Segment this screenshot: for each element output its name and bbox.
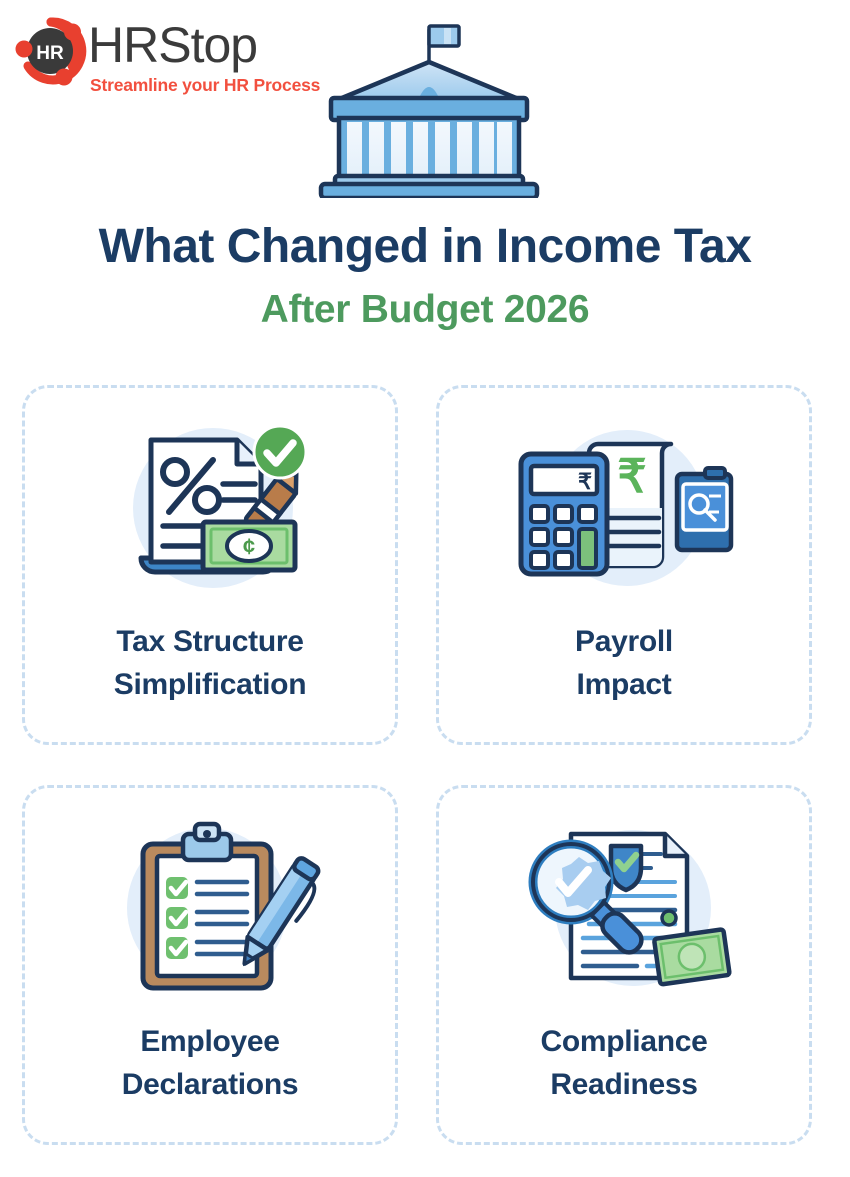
card-compliance-readiness[interactable]: Compliance Readiness <box>436 785 812 1145</box>
card-tax-structure-simplification[interactable]: ¢ Tax Structure Simplification <box>22 385 398 745</box>
government-bank-building-icon <box>295 18 555 198</box>
svg-text:HR: HR <box>36 43 64 64</box>
card-grid: ¢ Tax Structure Simplification <box>22 385 828 1145</box>
card-label-line2: Impact <box>439 663 809 706</box>
page-title: What Changed in Income Tax <box>0 218 850 276</box>
card-label-line2: Simplification <box>25 663 395 706</box>
magnifier-shield-document-icon <box>509 812 739 1002</box>
card-payroll-impact[interactable]: ₹ ₹ <box>436 385 812 745</box>
tax-document-percent-icon: ¢ <box>95 412 325 602</box>
brand-tagline: Streamline your HR Process <box>90 76 320 95</box>
card-label: Tax Structure Simplification <box>25 620 395 706</box>
card-label: Payroll Impact <box>439 620 809 706</box>
card-label-line1: Compliance <box>439 1020 809 1063</box>
clipboard-checklist-pen-icon <box>95 812 325 1002</box>
svg-text:¢: ¢ <box>243 534 255 559</box>
svg-text:₹: ₹ <box>578 469 592 494</box>
card-label: Compliance Readiness <box>439 1020 809 1106</box>
page-subtitle: After Budget 2026 <box>0 286 850 334</box>
hrstop-logo-mark-icon: HR <box>14 14 88 88</box>
card-label-line1: Payroll <box>439 620 809 663</box>
card-employee-declarations[interactable]: Employee Declarations <box>22 785 398 1145</box>
infographic-page: HR HRStop Streamline your HR Process <box>0 0 850 1177</box>
card-label: Employee Declarations <box>25 1020 395 1106</box>
calculator-payslip-rupee-icon: ₹ ₹ <box>509 412 739 602</box>
svg-text:₹: ₹ <box>617 450 646 502</box>
card-label-line1: Employee <box>25 1020 395 1063</box>
card-label-line2: Readiness <box>439 1063 809 1106</box>
brand-wordmark: HRStop <box>88 20 257 70</box>
card-label-line2: Declarations <box>25 1063 395 1106</box>
card-label-line1: Tax Structure <box>25 620 395 663</box>
